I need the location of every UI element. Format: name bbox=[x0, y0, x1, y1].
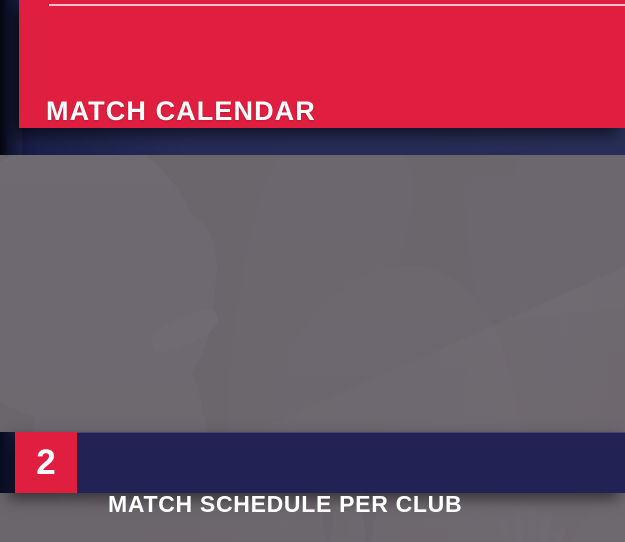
page-title: MATCH CALENDAR AND PLAYER WORKLOAD bbox=[46, 26, 409, 128]
title-rule-divider bbox=[49, 4, 625, 6]
section-title: MATCH SCHEDULE PER CLUB A GLOBAL ANALYSI… bbox=[108, 439, 462, 542]
title-banner: MATCH CALENDAR AND PLAYER WORKLOAD bbox=[19, 0, 625, 128]
section-banner: 2 MATCH SCHEDULE PER CLUB A GLOBAL ANALY… bbox=[15, 432, 625, 493]
section-line-1: MATCH SCHEDULE PER CLUB bbox=[108, 491, 462, 517]
title-line-1: MATCH CALENDAR bbox=[46, 94, 409, 128]
section-bar-left-edge bbox=[0, 432, 16, 493]
section-bar-highlight bbox=[15, 432, 625, 433]
section-number-badge: 2 bbox=[15, 432, 77, 493]
slide-root: MATCH CALENDAR AND PLAYER WORKLOAD 2 MAT… bbox=[0, 0, 625, 542]
